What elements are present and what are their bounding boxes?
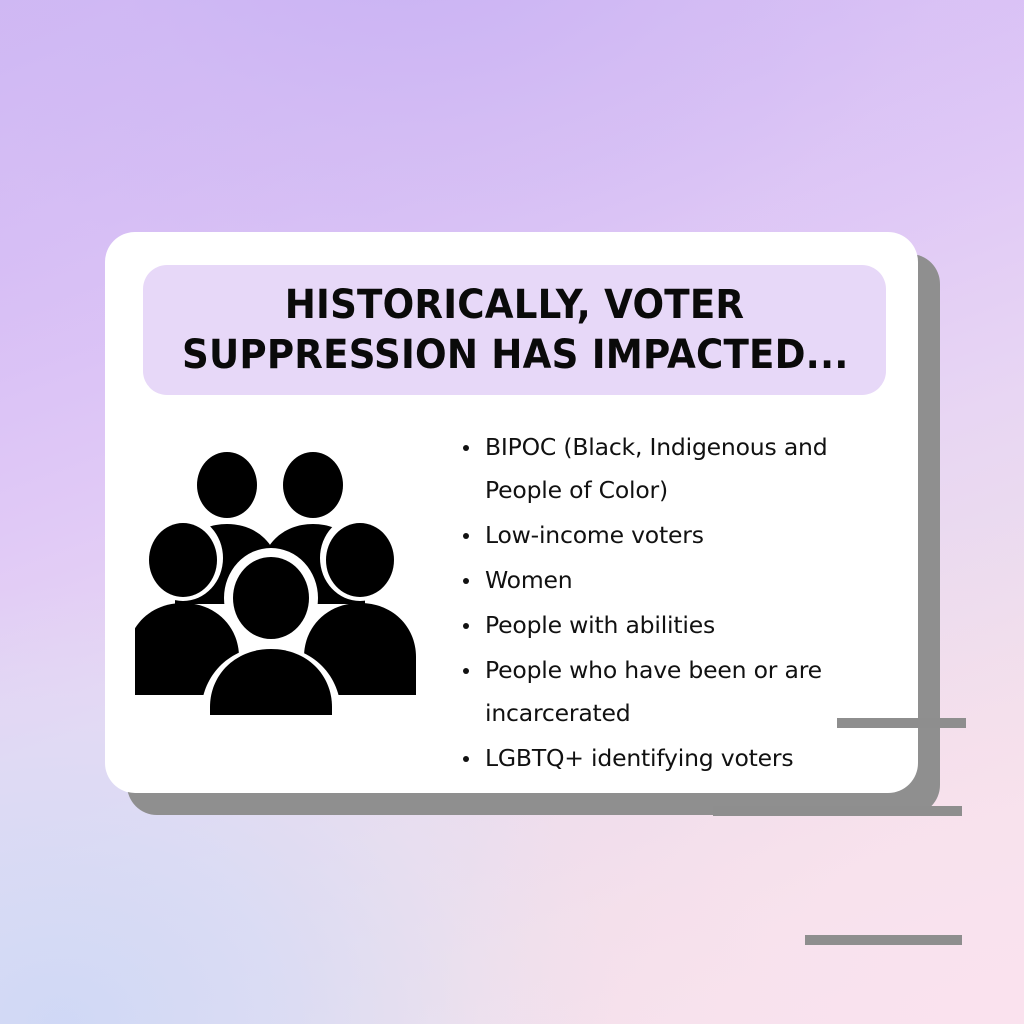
redaction-bar-1 (837, 718, 966, 728)
group-of-people-icon (135, 450, 435, 715)
list-item: BIPOC (Black, Indigenous and People of C… (455, 426, 877, 512)
page-title-line-2: SUPPRESSION HAS IMPACTED... (182, 330, 847, 380)
page-title-line-1: HISTORICALLY, VOTER (182, 280, 847, 330)
impacted-groups-list: BIPOC (Black, Indigenous and People of C… (455, 426, 910, 782)
redaction-bar-3 (805, 935, 962, 945)
card-body: BIPOC (Black, Indigenous and People of C… (105, 410, 918, 793)
title-banner: HISTORICALLY, VOTER SUPPRESSION HAS IMPA… (143, 265, 886, 395)
list-item: People with abilities (455, 604, 877, 647)
list-item: Women (455, 559, 877, 602)
infographic-canvas: HISTORICALLY, VOTER SUPPRESSION HAS IMPA… (0, 0, 1024, 1024)
list-item: LGBTQ+ identifying voters (455, 737, 877, 780)
redaction-bar-2 (713, 806, 962, 816)
list-item: Low-income voters (455, 514, 877, 557)
page-title: HISTORICALLY, VOTER SUPPRESSION HAS IMPA… (169, 280, 860, 381)
info-card: HISTORICALLY, VOTER SUPPRESSION HAS IMPA… (105, 232, 918, 793)
list-item: People who have been or are incarcerated (455, 649, 877, 735)
